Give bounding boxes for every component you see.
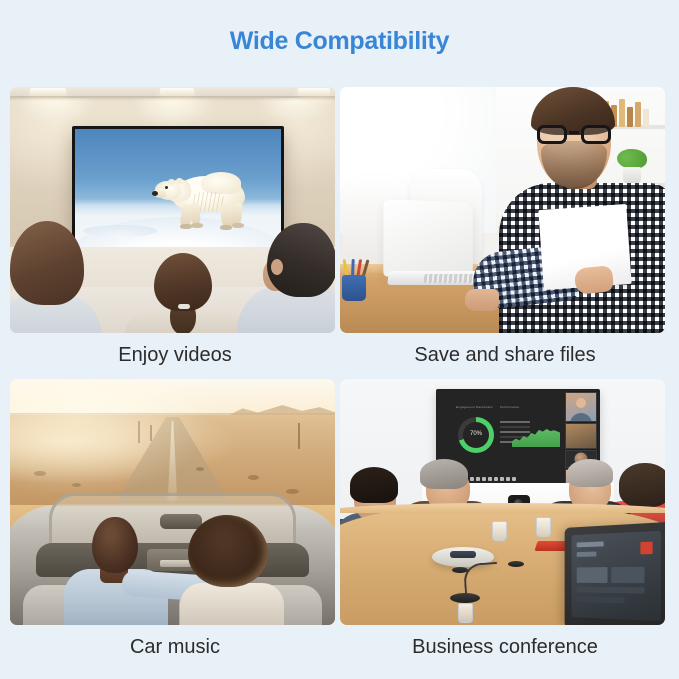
- photo-home-office: [340, 87, 665, 333]
- mic-puck-2[interactable]: [508, 561, 524, 567]
- page-title: Wide Compatibility: [0, 0, 679, 62]
- tablet-screen[interactable]: [572, 531, 661, 621]
- water-glass-3: [458, 603, 473, 623]
- laptop-lid: [383, 199, 472, 276]
- attendee-2-hair: [420, 459, 468, 489]
- passenger-hair: [188, 515, 268, 587]
- table-microphone[interactable]: [450, 593, 480, 603]
- desert-rock-2: [72, 483, 81, 487]
- viewer-woman-left: [10, 223, 108, 333]
- performance-area-chart: [512, 425, 560, 447]
- ceiling-light-3: [298, 88, 330, 96]
- man-beard: [541, 141, 607, 189]
- tablet-red-button[interactable]: [640, 542, 652, 555]
- eyeglasses: [535, 125, 613, 145]
- ceiling-light-1: [30, 88, 66, 96]
- panel-save-and-share-files: Save and share files: [340, 87, 670, 379]
- tablet-tile-1[interactable]: [577, 567, 608, 583]
- participant-tile-1: [565, 392, 597, 422]
- tablet-row-2: [577, 552, 597, 557]
- water-glass-1: [492, 521, 507, 541]
- chart-area-fill: [512, 425, 560, 447]
- tablet-row-1: [577, 541, 604, 547]
- wide-compatibility-page: Wide Compatibility: [0, 0, 679, 679]
- viewer-girl-hair-tie: [178, 304, 190, 309]
- panel-car-music: Car music: [10, 379, 340, 671]
- viewer-woman-hair: [10, 221, 84, 305]
- viewer-girl-hair: [154, 253, 212, 311]
- attendee-1-hair: [350, 467, 398, 503]
- caption-save-and-share-files: Save and share files: [340, 333, 670, 379]
- glasses-lens-right: [581, 125, 611, 144]
- glasses-bridge: [569, 131, 579, 134]
- participant-tile-2: [565, 423, 597, 449]
- utility-pole-3: [298, 423, 300, 449]
- ceiling-soffit-shadow: [10, 96, 335, 101]
- ceiling-light-2: [160, 88, 194, 96]
- desert-rock-1: [34, 471, 46, 476]
- bear-hump: [201, 172, 241, 194]
- man-hand-holding-paper: [574, 265, 615, 295]
- viewer-girl-center: [138, 251, 230, 333]
- metric-row-1: [500, 421, 530, 423]
- bear-paw-2: [191, 223, 203, 228]
- desert-rock-4: [286, 489, 299, 494]
- driver-head: [92, 517, 138, 573]
- tablet-row-3: [577, 587, 645, 594]
- utility-pole-1: [138, 421, 140, 443]
- dashboard-left-label: Engagement Dashboard: [456, 405, 493, 409]
- taskbar-icon-11[interactable]: [506, 477, 510, 481]
- utility-pole-2: [150, 425, 152, 441]
- bear-paw-3: [220, 225, 232, 230]
- panel-business-conference: Engagement Dashboard Performance 70%: [340, 379, 670, 671]
- passenger-woman: [164, 515, 296, 623]
- gauge-value: 70%: [458, 431, 494, 437]
- table-edge-highlight: [340, 503, 665, 513]
- office-man: [469, 89, 665, 333]
- participant-1-face: [576, 398, 586, 408]
- panel-enjoy-videos: Enjoy videos: [10, 87, 340, 379]
- caption-business-conference: Business conference: [340, 625, 670, 671]
- tablet-row-4: [577, 596, 625, 603]
- caption-enjoy-videos: Enjoy videos: [10, 333, 340, 379]
- taskbar-icon-10[interactable]: [500, 477, 504, 481]
- man-hand-on-laptop: [465, 289, 499, 311]
- dashboard-right-label: Performance: [500, 405, 519, 409]
- water-glass-2: [536, 517, 551, 537]
- viewer-man-ear: [271, 259, 283, 275]
- viewer-man-right: [237, 215, 335, 333]
- attendee-3-hair: [567, 459, 613, 487]
- photo-living-room-tv: [10, 87, 335, 333]
- photo-conference-room: Engagement Dashboard Performance 70%: [340, 379, 665, 625]
- participant-1-shirt: [570, 413, 592, 422]
- caption-car-music: Car music: [10, 625, 340, 671]
- desert-rock-3: [248, 475, 259, 480]
- feature-grid: Enjoy videos: [10, 87, 669, 671]
- desert-rock-5: [196, 467, 204, 471]
- completion-gauge: 70%: [458, 417, 494, 453]
- glasses-lens-left: [537, 125, 567, 144]
- tablet-tile-2[interactable]: [611, 567, 644, 584]
- photo-convertible-sunset: [10, 379, 335, 625]
- passenger-torso: [180, 583, 284, 625]
- pen-cup: [342, 275, 366, 301]
- taskbar-icon-12[interactable]: [512, 477, 516, 481]
- control-tablet[interactable]: [565, 522, 665, 625]
